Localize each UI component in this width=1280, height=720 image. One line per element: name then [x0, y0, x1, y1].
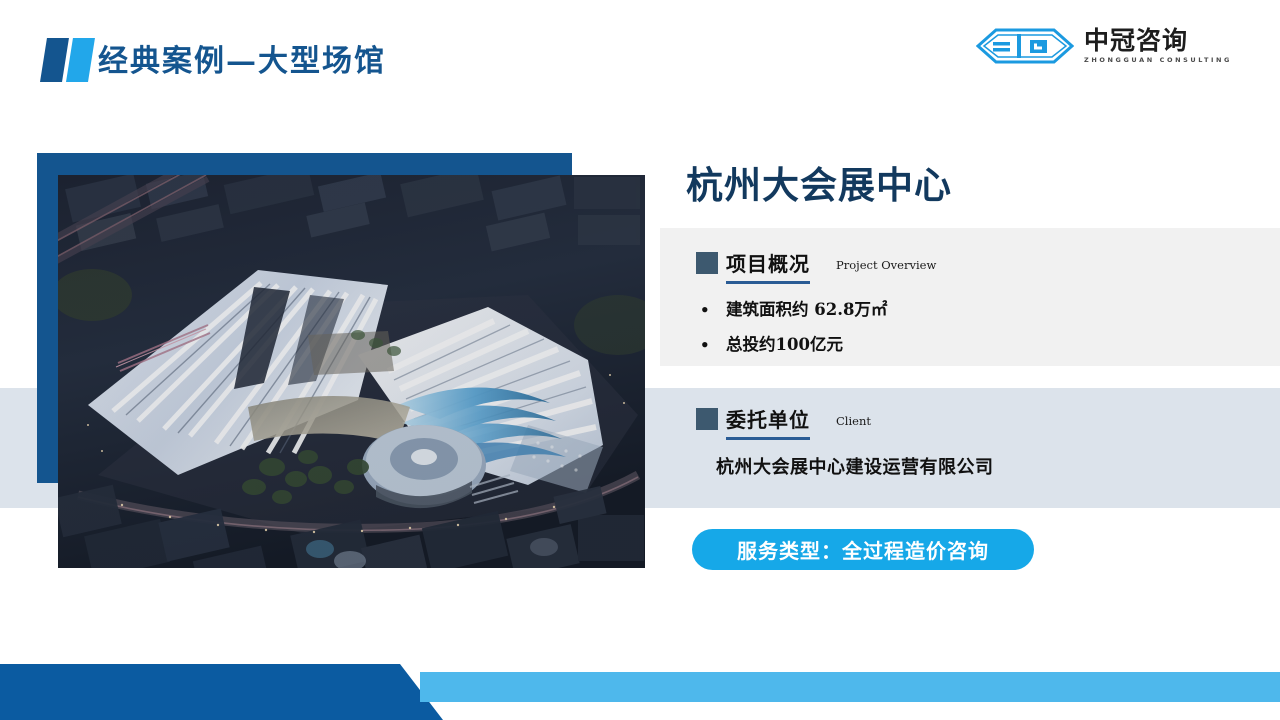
- header-marker-light-bar: [66, 38, 95, 82]
- overview-bullet-list: • 建筑面积约 62.8万㎡ • 总投约100亿元: [700, 296, 887, 366]
- footer-shapes-icon: [0, 650, 1280, 720]
- section-label-en-overview: Project Overview: [836, 258, 936, 272]
- bullet-dot-icon: •: [700, 301, 726, 319]
- section-label-en-client: Client: [836, 414, 871, 428]
- section-header-client: 委托单位 Client: [696, 404, 871, 440]
- section-label-cn-client: 委托单位: [726, 404, 810, 440]
- brand-logo: 中冠咨询 ZHONGGUAN CONSULTING: [976, 26, 1232, 66]
- brand-name-en: ZHONGGUAN CONSULTING: [1084, 57, 1232, 64]
- list-item: • 建筑面积约 62.8万㎡: [700, 296, 887, 320]
- footer-decoration: [0, 650, 1280, 720]
- zhongguan-emblem-icon: [976, 26, 1074, 66]
- aerial-render-illustration: [58, 175, 645, 568]
- brand-name-cn: 中冠咨询: [1084, 28, 1188, 53]
- header-marker-dark-bar: [40, 38, 69, 82]
- page-title: 经典案例—大型场馆: [98, 36, 386, 80]
- bullet-text: 总投约100亿元: [726, 331, 843, 355]
- section-label-cn-overview: 项目概况: [726, 248, 810, 284]
- list-item: • 总投约100亿元: [700, 331, 887, 355]
- project-aerial-photo: [58, 175, 645, 568]
- client-company-name: 杭州大会展中心建设运营有限公司: [716, 453, 994, 479]
- section-marker-square-icon: [696, 408, 718, 430]
- slide-root: 经典案例—大型场馆 中冠咨询 ZHONGGUAN CONSULTING: [0, 0, 1280, 720]
- service-type-badge: 服务类型：全过程造价咨询: [692, 529, 1034, 570]
- brand-logo-text: 中冠咨询 ZHONGGUAN CONSULTING: [1084, 28, 1232, 64]
- section-marker-square-icon: [696, 252, 718, 274]
- project-title: 杭州大会展中心: [686, 155, 952, 209]
- bullet-text: 建筑面积约 62.8万㎡: [726, 296, 887, 320]
- bullet-dot-icon: •: [700, 336, 726, 354]
- section-header-overview: 项目概况 Project Overview: [696, 248, 936, 284]
- header-marker-icon: [40, 38, 90, 82]
